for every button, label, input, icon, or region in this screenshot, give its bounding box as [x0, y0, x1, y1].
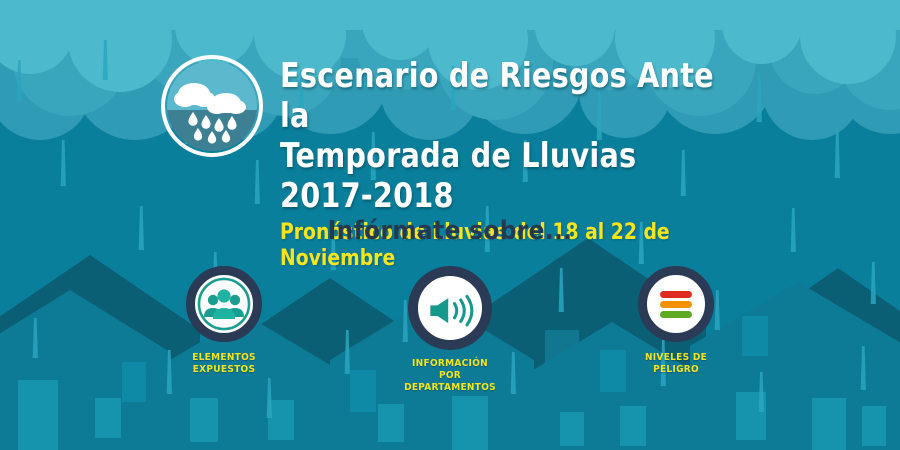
action-label: ELEMENTOS EXPUESTOS — [174, 352, 274, 376]
speaker-sound-icon[interactable] — [408, 266, 492, 350]
action-elementos-expuestos[interactable]: ELEMENTOS EXPUESTOS — [174, 266, 274, 394]
action-informacion-por-departamentos[interactable]: INFORMACIÓN POR DEPARTAMENTOS — [400, 266, 500, 394]
action-niveles-de-peligro[interactable]: NIVELES DE PELIGRO — [626, 266, 726, 394]
danger-bar-alto — [660, 291, 692, 298]
people-group-icon[interactable] — [186, 266, 262, 342]
danger-bar-medio — [660, 301, 692, 308]
header: Escenario de Riesgos Ante la Temporada d… — [160, 52, 760, 192]
danger-bar-bajo — [660, 311, 692, 318]
rain-season-risk-banner: Escenario de Riesgos Ante la Temporada d… — [0, 0, 900, 450]
danger-bars — [660, 291, 692, 318]
informate-prompt: Infórmate sobre... — [0, 216, 900, 246]
action-label: NIVELES DE PELIGRO — [626, 352, 726, 376]
action-buttons: ELEMENTOS EXPUESTOS INFORMACIÓN POR DEPA… — [0, 266, 900, 394]
page-title: Escenario de Riesgos Ante la Temporada d… — [280, 56, 731, 216]
danger-levels-bars-icon[interactable] — [638, 266, 714, 342]
rain-cloud-icon — [160, 54, 264, 158]
action-label: INFORMACIÓN POR DEPARTAMENTOS — [400, 358, 500, 394]
